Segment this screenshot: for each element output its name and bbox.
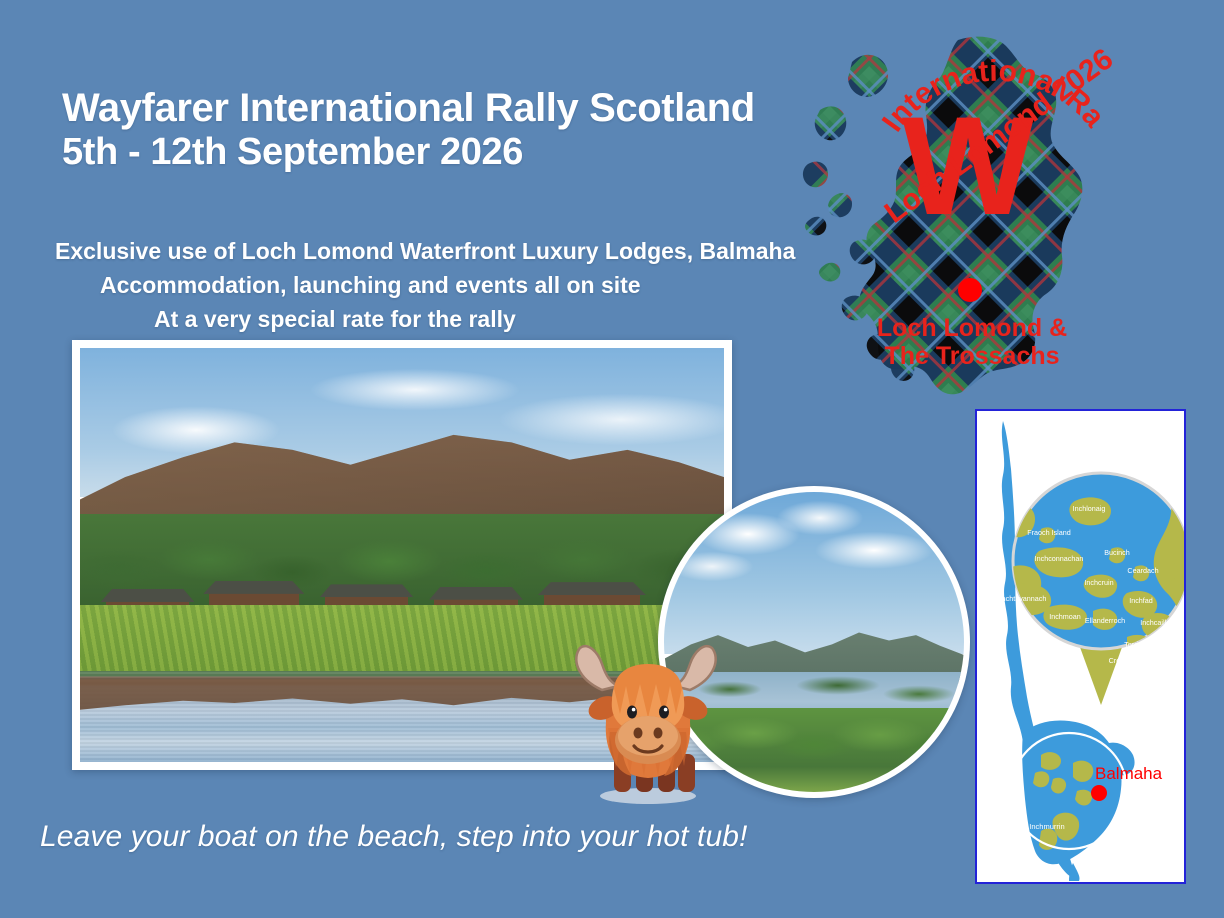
highland-cow-icon	[562, 636, 732, 808]
island-label: Clairinch	[1157, 638, 1184, 647]
island-label: Creinch	[1109, 656, 1134, 665]
tagline: Leave your boat on the beach, step into …	[40, 820, 800, 854]
balmaha-label: Balmaha	[1095, 764, 1163, 783]
island-label: Inchlonaig	[1073, 504, 1106, 513]
logo-footer-line-1: Loch Lomond &	[877, 314, 1067, 342]
poster-canvas: Wayfarer International Rally Scotland 5t…	[0, 0, 1224, 918]
island-label: Inchconnachan	[1035, 554, 1084, 563]
island-label: Inchcruin	[1084, 578, 1113, 587]
headline-line-1: Wayfarer International Rally Scotland	[62, 86, 755, 130]
loch-lomond-inset-map: Inchlonaig Fraoch Island Inchconnachan B…	[975, 409, 1186, 884]
balmaha-marker-icon	[1091, 785, 1107, 801]
loch-sky-layer	[664, 492, 964, 654]
island-label: Ellanderroch	[1085, 616, 1125, 625]
island-label: Fraoch Island	[1027, 528, 1071, 537]
location-marker-icon	[958, 278, 982, 302]
logo-footer-line-2: The Trossachs	[884, 342, 1059, 370]
island-label: Torrinch	[1124, 640, 1150, 649]
rally-logo: International Rally W Loch Lomond 2026 L…	[790, 18, 1120, 418]
island-label: Bucinch	[1104, 548, 1130, 557]
island-label: Inchtavannach	[1000, 594, 1047, 603]
inchmurrin-label: Inchmurrin	[1029, 822, 1064, 831]
headline-line-2: 5th - 12th September 2026	[62, 131, 822, 174]
island-label: Inchcailloch	[1140, 618, 1178, 627]
island-label: Inchfad	[1129, 596, 1153, 605]
island-label: Inchmoan	[1049, 612, 1081, 621]
island-label: Ceardach	[1127, 566, 1158, 575]
page-title: Wayfarer International Rally Scotland 5t…	[62, 86, 822, 173]
